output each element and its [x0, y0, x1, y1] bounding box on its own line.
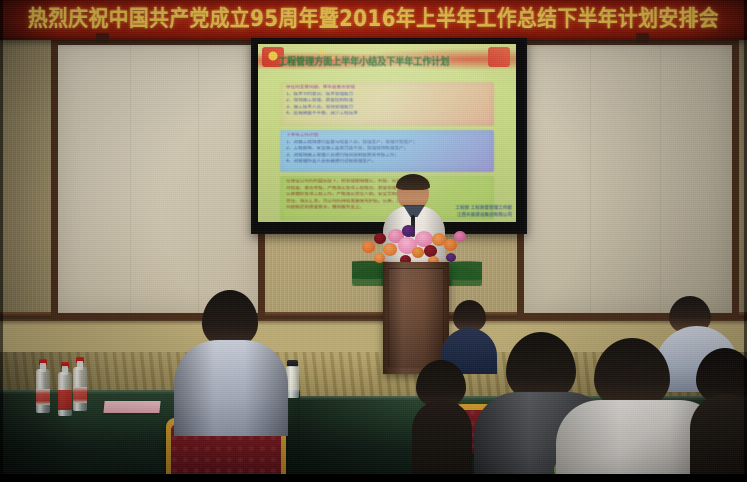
wall-panel-left	[51, 38, 265, 320]
slide-block-plan: 下半年工作计划 1、对施工现场进行监督与检查人员，加强生产，管理计划生产； 2、…	[280, 130, 494, 172]
slide-bullet: 3、施工技术人员、现场管理能力	[286, 105, 488, 112]
attendee-shoulders	[690, 394, 747, 482]
slide-bullet: 4、区域销量不平衡、减少工程成本	[286, 111, 488, 118]
celebration-banner: 热烈庆祝中国共产党成立95周年暨2016年上半年工作总结下半年计划安排会	[0, 0, 747, 40]
image-bottom-letterbox	[0, 474, 747, 482]
wall-panel-right	[517, 38, 739, 320]
water-bottle	[58, 362, 72, 416]
attendee-front-left	[174, 290, 288, 435]
slide-company-line: 江西天骏建设集团有限公司	[455, 213, 512, 219]
banner-text: 热烈庆祝中国共产党成立95周年暨2016年上半年工作总结下半年计划安排会	[6, 7, 742, 31]
slide-bullet: 1、对施工现场进行监督与检查人员，加强生产，管理计划生产；	[286, 140, 488, 147]
podium-front-panel	[388, 268, 444, 368]
speaker-hair	[396, 174, 430, 190]
slide-bullet: 1、技术节约意识、技术管理能力	[286, 92, 488, 99]
speaker-podium	[383, 262, 449, 374]
slide-header-graphic: 工程管理方面上半年小结及下半年工作计划	[258, 44, 516, 78]
slide-company-line: 工程部 工程质量管理工作部	[455, 206, 512, 212]
slide-bullet: 2、工程部将、安全施工监管力度不足，加强现场标准生产；	[286, 146, 488, 153]
slide-block-heading: 下半年工作计划	[286, 133, 488, 140]
attendee-low-center	[412, 360, 472, 482]
water-bottle	[36, 359, 50, 413]
banner-mount-right	[636, 33, 649, 43]
attendee-far-right	[690, 348, 747, 482]
attendee-shoulders	[412, 400, 472, 482]
water-bottle	[73, 357, 87, 411]
pink-document	[103, 401, 160, 413]
slide-bullet: 2、现场施工管理、质量控制标准	[286, 98, 488, 105]
slide-company-signature: 工程部 工程质量管理工作部 江西天骏建设集团有限公司	[455, 206, 512, 219]
attendee-shoulders	[174, 340, 288, 436]
banner-mount-left	[96, 33, 109, 43]
slide-bullet: 4、对管理作业人员长期进行过程管理生产。	[286, 159, 488, 166]
slide-block-heading: 存在的主要问题、本年度重点管理	[286, 85, 488, 92]
slide-bullet: 3、对现场施工管理人员进行培训及制度教育考核工作；	[286, 153, 488, 160]
image-left-edge	[0, 0, 3, 482]
slide-block-issues: 存在的主要问题、本年度重点管理 1、技术节约意识、技术管理能力 2、现场施工管理…	[280, 82, 494, 126]
conference-photo: 热烈庆祝中国共产党成立95周年暨2016年上半年工作总结下半年计划安排会 工程管…	[0, 0, 747, 482]
slide-title: 工程管理方面上半年小结及下半年工作计划	[278, 53, 491, 68]
